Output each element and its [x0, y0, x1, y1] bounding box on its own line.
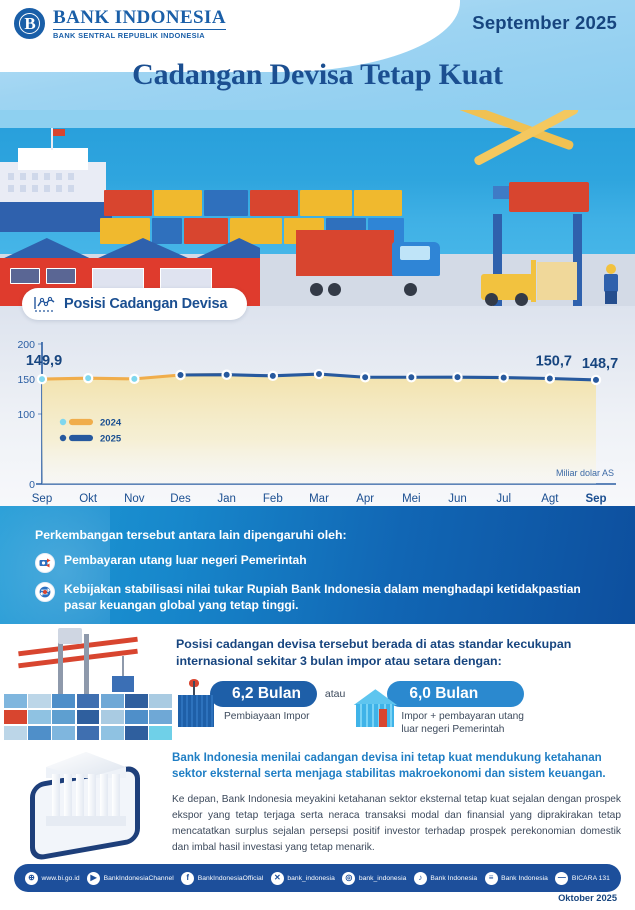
instagram-icon[interactable]: ◎ [342, 872, 355, 885]
legend-label: 2024 [100, 418, 122, 429]
badge-import-plus-debt: 6,0 Bulan Impor + pembayaran utang luar … [353, 681, 524, 736]
footer-item-label: BankIndonesiaChannel [104, 875, 174, 882]
footer-item-label: Bank Indonesia [430, 875, 477, 882]
page-header: B BANK INDONESIA BANK SENTRAL REPUBLIK I… [0, 0, 635, 110]
band-heading: Perkembangan tersebut antara lain dipeng… [35, 528, 609, 542]
central-bank-phone-illustration [18, 746, 158, 858]
influencing-factors-band: Perkembangan tersebut antara lain dipeng… [0, 506, 635, 624]
worker-figure-icon [603, 264, 619, 304]
chart-data-point [361, 373, 369, 381]
container-grid [4, 694, 172, 740]
band-item-text: Pembayaran utang luar negeri Pemerintah [64, 553, 307, 569]
legend-swatch [69, 419, 93, 425]
x-tick-label: Sep [585, 493, 606, 505]
footer-item[interactable]: ▶BankIndonesiaChannel [87, 872, 174, 885]
chart-data-point [407, 373, 415, 381]
x-twitter-icon[interactable]: ✕ [271, 872, 284, 885]
chart-data-point [176, 371, 184, 379]
badges-row: 6,2 Bulan Pembiayaan Impor atau 6,0 Bula… [176, 681, 623, 736]
x-tick-label: Mar [309, 493, 329, 505]
bank-indonesia-logo: B BANK INDONESIA BANK SENTRAL REPUBLIK I… [14, 8, 226, 40]
tiktok-icon[interactable]: ♪ [414, 872, 427, 885]
bi-logo-mark-icon: B [14, 8, 45, 39]
cruise-ship-icon [0, 138, 114, 232]
x-tick-label: Okt [79, 493, 98, 505]
chart-data-point [546, 374, 554, 382]
band-item: Pembayaran utang luar negeri Pemerintah [35, 553, 609, 573]
chart-data-point [38, 375, 46, 383]
truck-icon [296, 230, 446, 292]
chart-data-point [223, 371, 231, 379]
badge-caption: Pembiayaan Impor [210, 710, 317, 723]
data-value-label: 148,7 [582, 356, 618, 372]
bi-logo-glyph: B [16, 10, 43, 37]
facebook-icon[interactable]: f [181, 872, 194, 885]
logo-title: BANK INDONESIA [53, 8, 226, 28]
line-chart-icon [34, 296, 56, 313]
x-tick-label: Feb [263, 493, 283, 505]
exchange-rate-icon [35, 582, 55, 602]
money-transfer-icon [35, 553, 55, 573]
assessment-highlight: Bank Indonesia menilai cadangan devisa i… [172, 750, 621, 782]
logo-subtitle: BANK SENTRAL REPUBLIK INDONESIA [53, 29, 226, 40]
page-title: Cadangan Devisa Tetap Kuat [0, 58, 635, 92]
legend-marker [60, 419, 66, 425]
footer-item[interactable]: ◎bank_indonesia [342, 872, 406, 885]
y-tick-label: 150 [17, 374, 35, 386]
y-tick-label: 0 [29, 479, 35, 491]
page-footer: ⊕www.bi.go.id▶BankIndonesiaChannelfBankI… [0, 862, 635, 910]
band-item-text: Kebijakan stabilisasi nilai tukar Rupiah… [64, 582, 609, 613]
chart-data-point [500, 374, 508, 382]
chart-title-label: Posisi Cadangan Devisa [64, 296, 227, 312]
footer-item[interactable]: ⊕www.bi.go.id [25, 872, 80, 885]
footer-item-label: BankIndonesiaOfficial [198, 875, 264, 882]
footer-item[interactable]: ✕bank_indonesia [271, 872, 335, 885]
legend-swatch [69, 435, 93, 441]
legend-label: 2025 [100, 434, 122, 445]
chart-data-point [269, 372, 277, 380]
reserves-line-chart: 0100150200149,9150,7148,7SepOktNovDesJan… [0, 334, 635, 506]
badge-value: 6,2 Bulan [210, 681, 317, 707]
band-item: Kebijakan stabilisasi nilai tukar Rupiah… [35, 582, 609, 613]
assessment-section: Bank Indonesia menilai cadangan devisa i… [0, 742, 635, 862]
chart-data-point [315, 370, 323, 378]
x-tick-label: Jul [496, 493, 511, 505]
social-media-bar: ⊕www.bi.go.id▶BankIndonesiaChannelfBankI… [14, 864, 621, 892]
port-illustration [0, 110, 635, 306]
globe-icon[interactable]: ⊕ [25, 872, 38, 885]
badge-caption: Impor + pembayaran utang luar negeri Pem… [387, 710, 524, 736]
phone-icon[interactable]: — [555, 872, 568, 885]
chart-title-pill: Posisi Cadangan Devisa [22, 288, 247, 320]
bank-temple-icon [46, 752, 126, 826]
chart-area-fill [42, 374, 596, 484]
footer-item-label: Bank Indonesia [501, 875, 548, 882]
legend-marker [60, 435, 66, 441]
footer-item-label: bank_indonesia [287, 875, 335, 882]
chart-data-point [453, 373, 461, 381]
x-tick-label: Nov [124, 493, 145, 505]
y-tick-label: 100 [17, 409, 35, 421]
data-value-label: 150,7 [536, 354, 572, 370]
y-tick-label: 200 [17, 339, 35, 351]
footer-item[interactable]: ♪Bank Indonesia [414, 872, 477, 885]
header-date: September 2025 [472, 12, 617, 34]
youtube-icon[interactable]: ▶ [87, 872, 100, 885]
chart-data-point [592, 376, 600, 384]
x-tick-label: Apr [356, 493, 374, 505]
footer-item[interactable]: —BICARA 131 [555, 872, 610, 885]
assessment-body: Ke depan, Bank Indonesia meyakini ketaha… [172, 792, 621, 855]
x-tick-label: Mei [402, 493, 421, 505]
port-crane-container-illustration [4, 630, 172, 736]
x-tick-label: Jan [217, 493, 236, 505]
chart-unit-label: Miliar dolar AS [556, 468, 614, 478]
bank-building-icon [353, 681, 395, 727]
badge-import-financing: 6,2 Bulan Pembiayaan Impor [176, 681, 317, 727]
chart-data-point [130, 375, 138, 383]
chart-data-point [84, 374, 92, 382]
footer-item-label: www.bi.go.id [42, 875, 80, 882]
threads-icon[interactable]: ≡ [485, 872, 498, 885]
adequacy-heading: Posisi cadangan devisa tersebut berada d… [176, 636, 623, 669]
footer-item[interactable]: fBankIndonesiaOfficial [181, 872, 263, 885]
chart-section: Posisi Cadangan Devisa 0100150200149,915… [0, 306, 635, 506]
container-icon [176, 681, 218, 727]
x-tick-label: Agt [541, 493, 559, 505]
badge-value: 6,0 Bulan [387, 681, 524, 707]
chart-svg: 0100150200149,9150,7148,7SepOktNovDesJan… [0, 334, 635, 506]
footer-item[interactable]: ≡Bank Indonesia [485, 872, 548, 885]
x-tick-label: Sep [32, 493, 52, 505]
forklift-icon [481, 252, 579, 306]
footer-item-label: BICARA 131 [572, 875, 610, 882]
connector-label: atau [325, 688, 345, 700]
x-tick-label: Jun [448, 493, 467, 505]
data-value-label: 149,9 [26, 353, 62, 369]
infographic-page: B BANK INDONESIA BANK SENTRAL REPUBLIK I… [0, 0, 635, 902]
footer-item-label: bank_indonesia [359, 875, 407, 882]
x-tick-label: Des [170, 493, 191, 505]
adequacy-standard-section: Posisi cadangan devisa tersebut berada d… [0, 624, 635, 742]
